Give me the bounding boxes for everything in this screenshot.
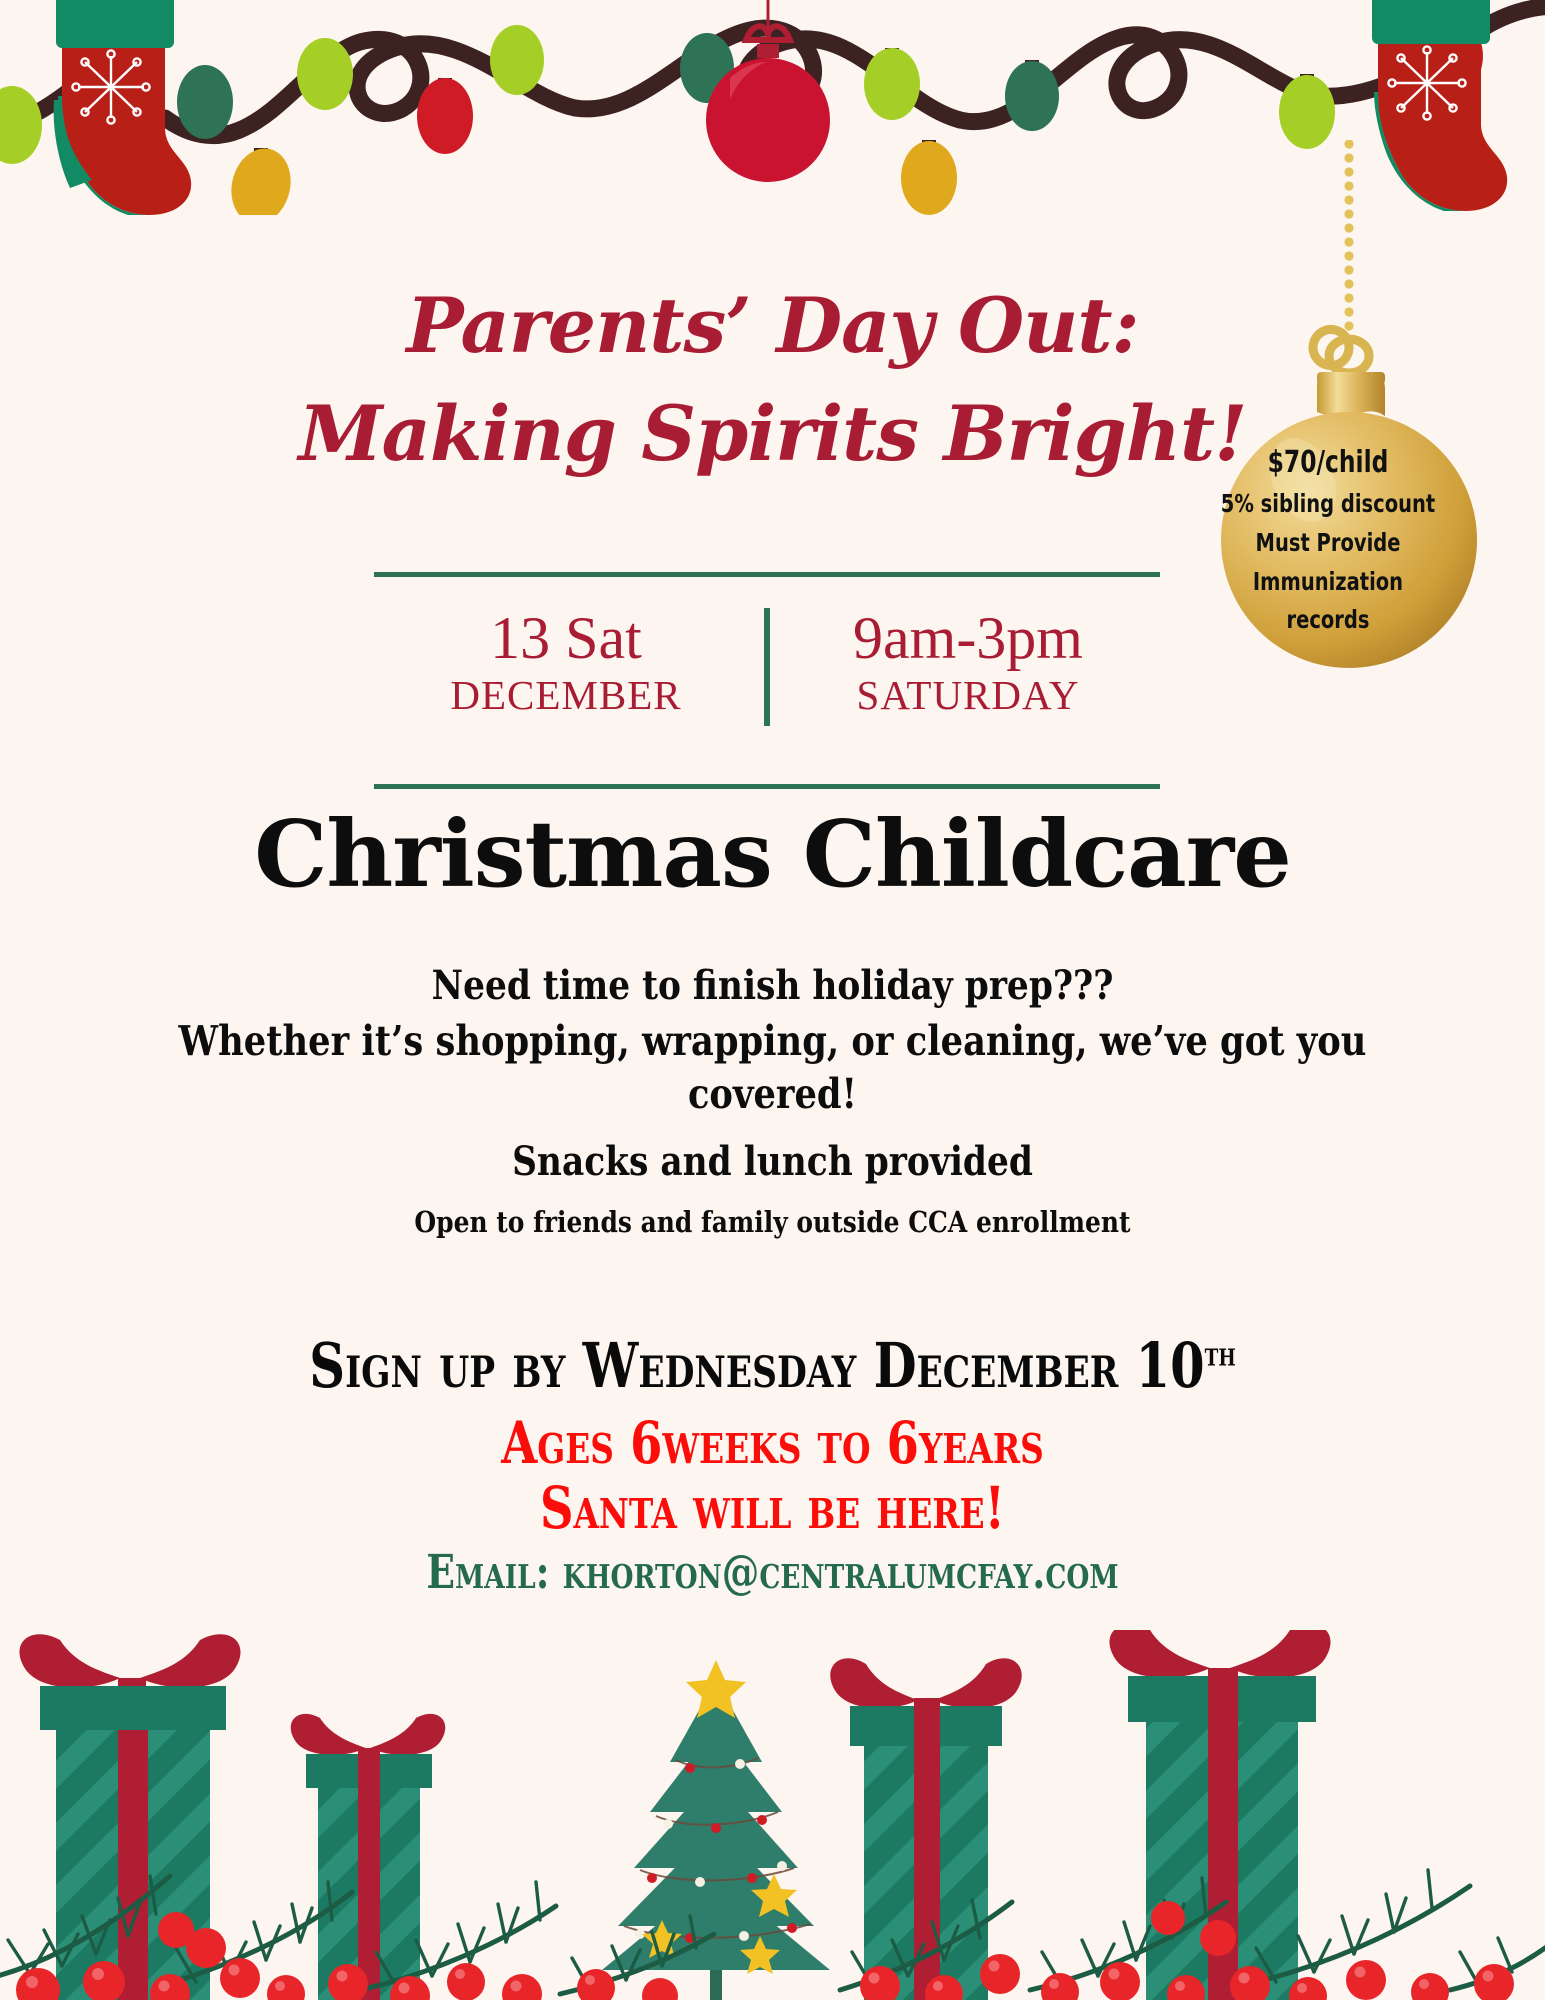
time-weekday: SATURDAY [798, 668, 1138, 723]
signup-deadline-ordinal: th [1205, 1335, 1236, 1373]
time-range: 9am-3pm [798, 608, 1138, 668]
signup-deadline-text: Sign up by Wednesday December 10 [309, 1329, 1204, 1402]
page-title: Christmas Childcare [0, 800, 1545, 908]
title-line-1: Parents’ Day Out: [0, 272, 1545, 380]
price-label: $70/child [1211, 440, 1445, 485]
holiday-flyer: Parents’ Day Out: Making Spirits Bright!… [0, 0, 1545, 2000]
santa-notice: Santa will be here! [155, 1476, 1391, 1541]
requirement-line-2: Immunization records [1211, 563, 1445, 641]
body-copy: Need time to finish holiday prep??? Whet… [40, 960, 1505, 1241]
divider-bottom [374, 784, 1160, 789]
time-column: 9am-3pm SATURDAY [798, 600, 1138, 723]
signup-block: Sign up by Wednesday December 10th Ages … [0, 1330, 1545, 1602]
date-month: DECEMBER [396, 668, 736, 723]
body-line-4: Open to friends and family outside CCA e… [143, 1188, 1403, 1242]
body-line-2: Whether it’s shopping, wrapping, or clea… [143, 1011, 1403, 1122]
body-line-1: Need time to finish holiday prep??? [143, 960, 1403, 1011]
body-line-3: Snacks and lunch provided [143, 1122, 1403, 1188]
divider-top [374, 572, 1160, 577]
date-column: 13 Sat DECEMBER [396, 600, 736, 723]
age-range: Ages 6weeks to 6years [155, 1401, 1391, 1476]
schedule-vertical-divider [764, 608, 770, 726]
ornament-pricing-text: $70/child 5% sibling discount Must Provi… [1178, 440, 1478, 640]
signup-deadline: Sign up by Wednesday December 10th [155, 1330, 1391, 1401]
schedule-block: 13 Sat DECEMBER 9am-3pm SATURDAY [374, 600, 1160, 780]
requirement-line-1: Must Provide [1211, 524, 1445, 563]
date-day: 13 Sat [396, 608, 736, 668]
sibling-discount-label: 5% sibling discount [1211, 485, 1445, 524]
contact-email[interactable]: Email: khorton@centralumcfay.com [155, 1541, 1391, 1601]
